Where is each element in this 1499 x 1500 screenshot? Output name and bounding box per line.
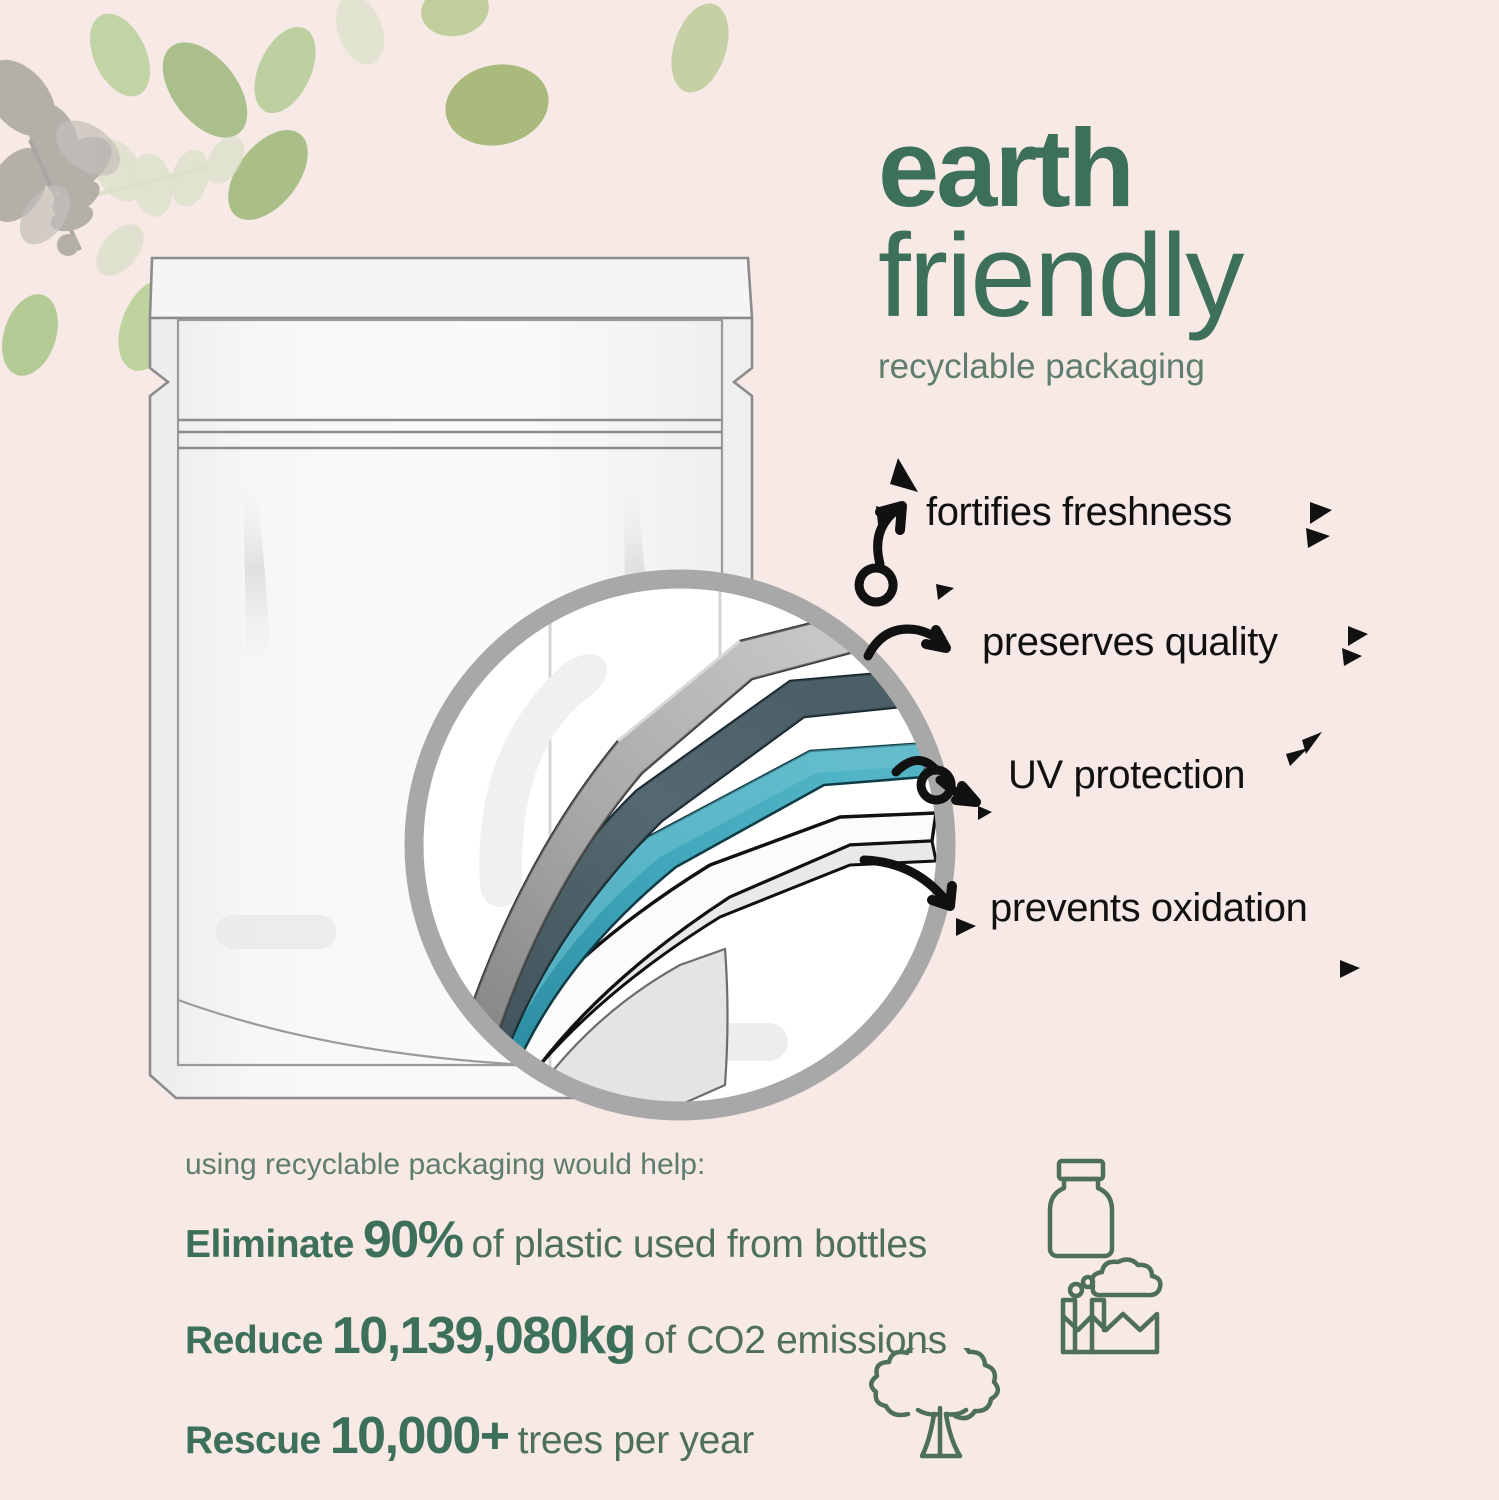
- headline-line-earth: earth: [878, 118, 1478, 219]
- headline-subtitle: recyclable packaging: [878, 347, 1478, 387]
- factory-icon: [1050, 1252, 1170, 1364]
- stat-verb: Eliminate: [185, 1223, 354, 1267]
- feature-label-prevents-oxidation: prevents oxidation: [990, 886, 1307, 931]
- stat-verb: Rescue: [185, 1419, 321, 1463]
- bottle-icon: [1038, 1156, 1124, 1264]
- stat-tail: of plastic used from bottles: [471, 1223, 927, 1267]
- infographic-canvas: fortifies freshness preserves quality UV…: [0, 0, 1499, 1500]
- stat-icons: [1020, 1148, 1220, 1468]
- stat-value: 90%: [354, 1210, 472, 1270]
- headline-line-friendly: friendly: [878, 219, 1478, 335]
- stat-value: 10,000+: [321, 1406, 518, 1466]
- headline-block: earth friendly recyclable packaging: [878, 118, 1478, 387]
- stat-tail: trees per year: [518, 1419, 754, 1463]
- stat-value: 10,139,080kg: [323, 1306, 644, 1366]
- tree-icon: [860, 1348, 1030, 1476]
- feature-label-preserves-quality: preserves quality: [982, 620, 1278, 665]
- feature-callouts: fortifies freshness preserves quality UV…: [840, 440, 1499, 980]
- feature-label-uv-protection: UV protection: [1008, 753, 1245, 798]
- feature-label-fortifies-freshness: fortifies freshness: [926, 490, 1232, 535]
- stat-verb: Reduce: [185, 1319, 323, 1363]
